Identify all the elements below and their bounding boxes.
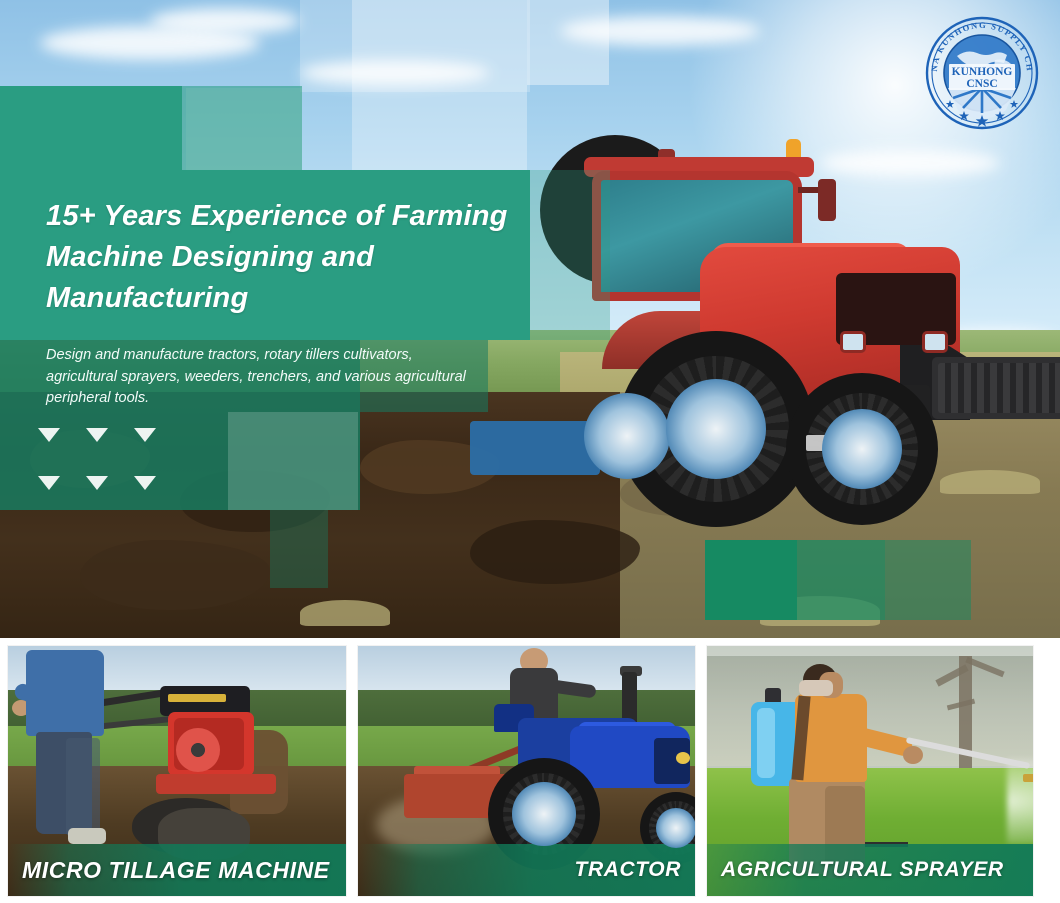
triangle-icon <box>86 428 108 442</box>
decor-square-light <box>228 412 358 510</box>
operator-leg <box>66 738 100 836</box>
tractor-rear-rim <box>512 782 576 846</box>
triangle-icon <box>134 428 156 442</box>
logo-center-line2: CNSC <box>966 78 997 90</box>
decor-green-block <box>0 86 182 172</box>
tiller-tank-label <box>168 694 226 702</box>
spray-mist <box>1007 758 1033 844</box>
hero-tractor-illustration <box>540 135 1060 535</box>
cloud <box>150 8 300 34</box>
sprayer-tank-highlight <box>757 708 775 778</box>
decor-green-block-translucent <box>182 86 302 172</box>
hero-subtext: Design and manufacture tractors, rotary … <box>46 345 466 410</box>
operator-scarf <box>799 680 833 696</box>
product-card-micro-tillage-machine[interactable]: MICRO TILLAGE MACHINE <box>8 646 346 896</box>
tractor-front-rim <box>656 808 695 848</box>
decor-green-block <box>705 540 797 620</box>
tractor-headlamp <box>922 331 948 353</box>
decor-green-block-translucent <box>885 540 971 620</box>
tractor-rear-implement <box>470 421 600 475</box>
tractor-weight-ribs <box>938 363 1060 413</box>
tractor-rear-rim <box>666 379 766 479</box>
spray-nozzle <box>1023 774 1033 782</box>
tractor-side-mirror <box>818 179 836 221</box>
triangle-icon <box>38 428 60 442</box>
card-label-bar: TRACTOR <box>358 844 695 896</box>
triangle-icon <box>38 476 60 490</box>
decor-green-block-translucent <box>270 510 328 588</box>
card-label-bar: AGRICULTURAL SPRAYER <box>707 844 1033 896</box>
company-logo[interactable]: KUNHONG CNSC CHINA KUNHONG SUPPLY CHAIN <box>921 12 1043 134</box>
tractor-headlamp <box>676 752 690 764</box>
operator-hand <box>903 746 923 764</box>
logo-center-line1: KUNHONG <box>952 66 1013 78</box>
decor-green-block-translucent <box>530 170 610 340</box>
promo-banner: 15+ Years Experience of Farming Machine … <box>0 0 1060 903</box>
tractor-far-rim <box>584 393 670 479</box>
tractor-front-rim <box>822 409 902 489</box>
product-card-tractor[interactable]: TRACTOR <box>358 646 695 896</box>
decor-triangle-grid <box>38 428 168 506</box>
operator-shoe <box>68 828 106 844</box>
tractor-headlamp <box>840 331 866 353</box>
card-label-text: TRACTOR <box>561 858 695 882</box>
tiller-deck <box>156 774 276 794</box>
decor-square-light <box>527 0 609 85</box>
card-label-bar: MICRO TILLAGE MACHINE <box>8 844 346 896</box>
hero-section: 15+ Years Experience of Farming Machine … <box>0 0 1060 638</box>
product-card-agricultural-sprayer[interactable]: AGRICULTURAL SPRAYER <box>707 646 1033 896</box>
product-card-strip: MICRO TILLAGE MACHINE <box>0 646 1060 903</box>
operator-torso <box>26 650 104 736</box>
triangle-icon <box>86 476 108 490</box>
decor-square-light <box>352 0 527 170</box>
tiller-pulley <box>176 728 220 772</box>
grass-tuft <box>300 600 390 626</box>
card-label-text: MICRO TILLAGE MACHINE <box>8 857 344 884</box>
triangle-icon <box>134 476 156 490</box>
hero-headline: 15+ Years Experience of Farming Machine … <box>46 196 536 319</box>
card-label-text: AGRICULTURAL SPRAYER <box>707 858 1018 882</box>
decor-green-block-translucent <box>797 540 885 620</box>
